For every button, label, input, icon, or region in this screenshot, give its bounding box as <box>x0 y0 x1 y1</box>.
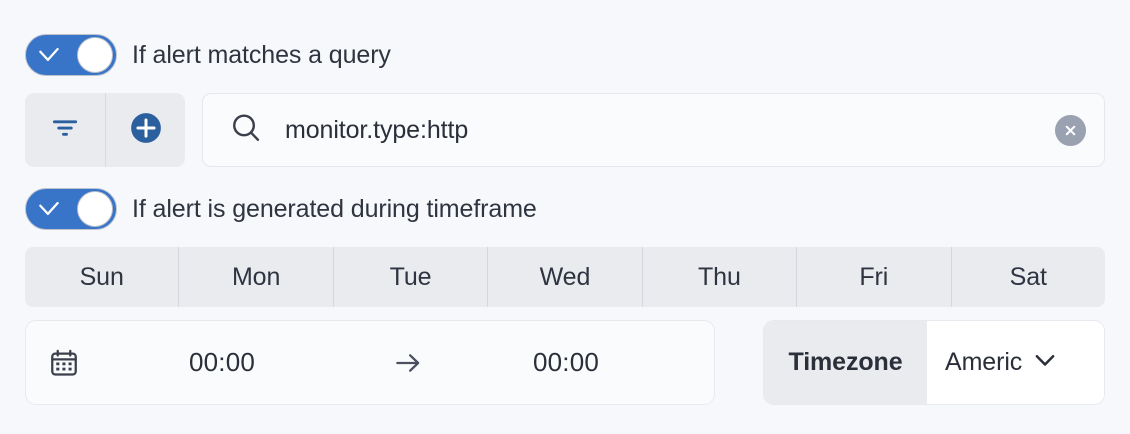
end-time-value[interactable]: 00:00 <box>440 347 714 378</box>
day-button-thu[interactable]: Thu <box>642 247 796 307</box>
start-time-value[interactable]: 00:00 <box>96 347 370 378</box>
toggle-alert-generated-during-timeframe[interactable] <box>25 188 117 230</box>
filter-button[interactable] <box>25 93 105 167</box>
check-icon <box>34 194 64 224</box>
timezone-select[interactable]: Americ <box>927 321 1104 404</box>
condition-label-query: If alert matches a query <box>132 41 391 70</box>
day-button-wed[interactable]: Wed <box>487 247 641 307</box>
toggle-knob <box>77 37 113 73</box>
close-circle-icon[interactable] <box>1055 115 1086 146</box>
search-icon <box>229 111 263 150</box>
day-button-tue[interactable]: Tue <box>333 247 487 307</box>
plus-circle-icon <box>129 111 163 150</box>
chevron-down-icon <box>1030 345 1060 380</box>
query-action-buttons <box>25 93 185 167</box>
arrow-right-icon <box>392 347 440 379</box>
query-builder-row: monitor.type:http <box>25 93 1105 167</box>
search-input-value[interactable]: monitor.type:http <box>285 116 1033 145</box>
calendar-icon <box>48 347 96 379</box>
condition-label-timeframe: If alert is generated during timeframe <box>132 195 537 224</box>
toggle-knob <box>77 191 113 227</box>
filter-icon <box>50 113 80 148</box>
timezone-label: Timezone <box>764 321 927 404</box>
day-of-week-selector: Sun Mon Tue Wed Thu Fri Sat <box>25 247 1105 307</box>
time-range-picker: 00:00 00:00 <box>25 320 715 405</box>
timezone-control: Timezone Americ <box>763 320 1105 405</box>
query-search-field[interactable]: monitor.type:http <box>202 93 1105 167</box>
day-button-mon[interactable]: Mon <box>178 247 332 307</box>
day-button-sun[interactable]: Sun <box>25 247 178 307</box>
timezone-value: Americ <box>945 348 1022 377</box>
condition-row-timeframe: If alert is generated during timeframe <box>25 188 537 230</box>
day-button-sat[interactable]: Sat <box>951 247 1105 307</box>
day-button-fri[interactable]: Fri <box>796 247 950 307</box>
condition-row-query: If alert matches a query <box>25 34 391 76</box>
end-time-cell[interactable]: 00:00 <box>370 321 714 404</box>
toggle-alert-matches-query[interactable] <box>25 34 117 76</box>
start-time-cell[interactable]: 00:00 <box>26 321 370 404</box>
add-condition-button[interactable] <box>105 93 185 167</box>
check-icon <box>34 40 64 70</box>
